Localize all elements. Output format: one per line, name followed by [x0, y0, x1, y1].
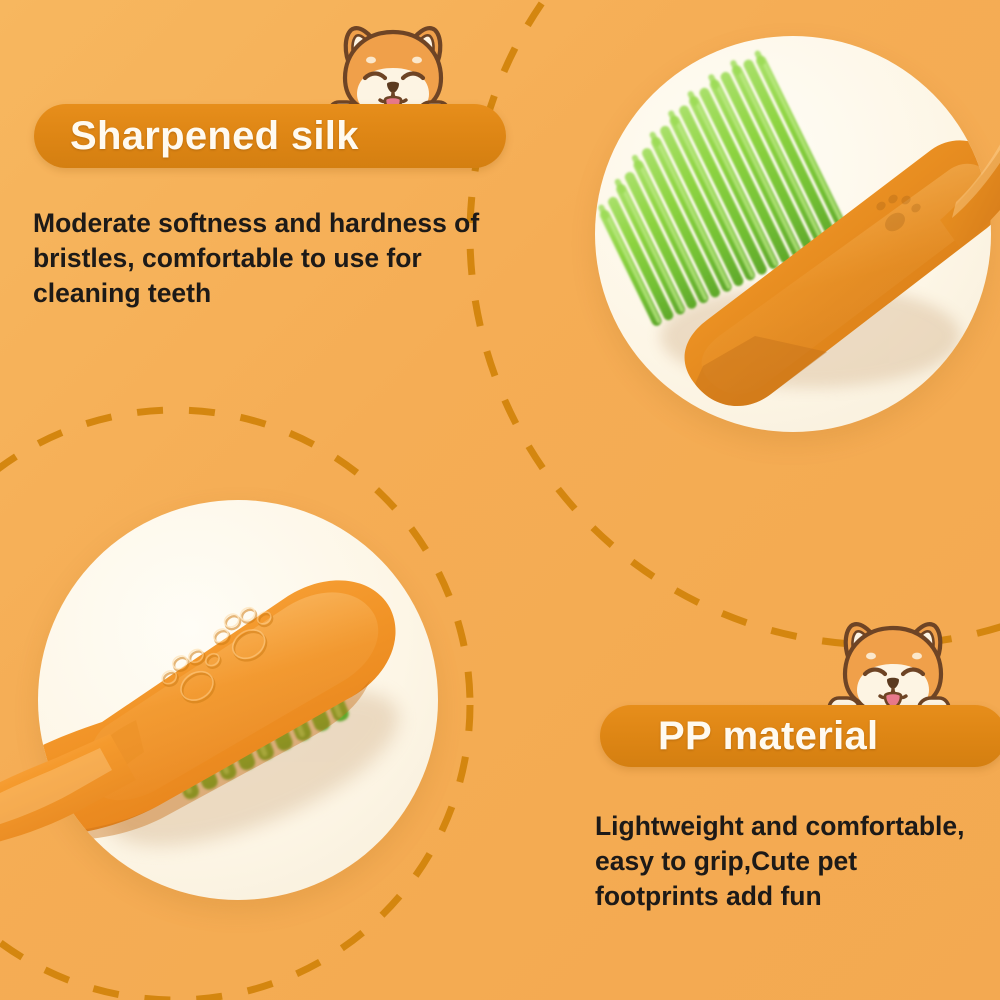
- feature-description-sharpened-silk: Moderate softness and hardness of bristl…: [33, 206, 503, 312]
- feature-description-pp-material: Lightweight and comfortable, easy to gri…: [595, 809, 985, 915]
- feature-title-sharpened-silk: Sharpened silk: [70, 114, 359, 159]
- product-feature-infographic: Sharpened silk PP material Moderate soft…: [0, 0, 1000, 1000]
- feature-photo-pp-material: [38, 500, 438, 900]
- feature-photo-sharpened-silk: [595, 36, 991, 432]
- closed-eyes: [365, 74, 423, 79]
- closed-eyes: [865, 670, 923, 675]
- feature-title-pill-sharpened-silk: Sharpened silk: [34, 104, 506, 168]
- feature-title-pill-pp-material: PP material: [600, 705, 1000, 767]
- nose-icon: [887, 678, 899, 689]
- nose-icon: [387, 82, 399, 93]
- feature-title-pp-material: PP material: [658, 714, 878, 759]
